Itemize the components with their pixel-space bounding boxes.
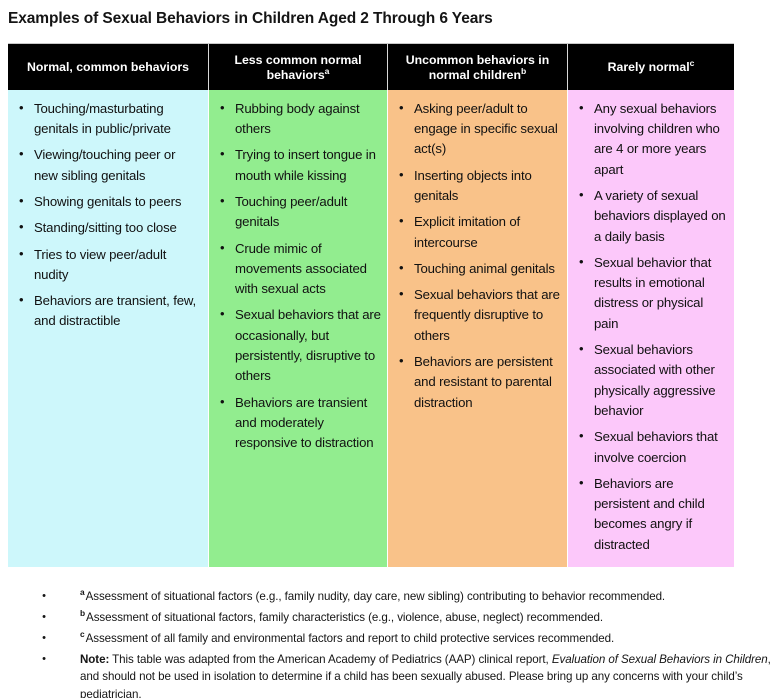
footnote-b: • bAssessment of situational factors, fa…: [8, 609, 771, 626]
page-title: Examples of Sexual Behaviors in Children…: [8, 8, 493, 30]
note-label: Note:: [80, 653, 109, 666]
table-cell-rarely-normal: Any sexual behaviors involving children …: [568, 90, 734, 567]
list-item: Behaviors are persistent and child becom…: [592, 474, 728, 555]
table-cell-less-common-normal: Rubbing body against others Trying to in…: [209, 90, 388, 567]
document-page: Examples of Sexual Behaviors in Children…: [0, 0, 779, 698]
list-item: Viewing/touching peer or new sibling gen…: [32, 145, 202, 186]
column-header-label: Normal, common behaviors: [27, 60, 189, 74]
list-item: Sexual behaviors that are occasionally, …: [233, 305, 381, 386]
list-item: Trying to insert tongue in mouth while k…: [233, 145, 381, 186]
list-item: Behaviors are transient and moderately r…: [233, 393, 381, 454]
footnote-text: bAssessment of situational factors, fami…: [80, 609, 771, 626]
list-item: Explicit imitation of intercourse: [412, 212, 561, 253]
list-item: Inserting objects into genitals: [412, 166, 561, 207]
footnote-body: Assessment of situational factors (e.g.,…: [86, 590, 666, 603]
list-item: Tries to view peer/adult nudity: [32, 245, 202, 286]
note-text: Note: This table was adapted from the Am…: [80, 651, 771, 698]
footnote-body: Assessment of all family and environment…: [86, 632, 615, 645]
footnote-text: cAssessment of all family and environmen…: [80, 630, 771, 647]
bullet-glyph: •: [8, 630, 80, 647]
footnote-text: aAssessment of situational factors (e.g.…: [80, 588, 771, 605]
footnote-marker: c: [80, 629, 85, 639]
footnote-body: Assessment of situational factors, famil…: [86, 611, 603, 624]
list-item: Touching peer/adult genitals: [233, 192, 381, 233]
list-item: Any sexual behaviors involving children …: [592, 99, 728, 180]
footnote-c: • cAssessment of all family and environm…: [8, 630, 771, 647]
column-header-label: Less common normal behaviors: [234, 53, 361, 82]
footnotes-section: • aAssessment of situational factors (e.…: [8, 588, 771, 698]
column-header-label: Rarely normal: [608, 60, 690, 74]
header-superscript: a: [325, 66, 330, 76]
column-header-uncommon-in-normal-children: Uncommon behaviors in normal childrenb: [388, 44, 568, 90]
behavior-list: Touching/masturbating genitals in public…: [12, 99, 202, 332]
list-item: Touching/masturbating genitals in public…: [32, 99, 202, 140]
list-item: Behaviors are persistent and resistant t…: [412, 352, 561, 413]
list-item: Asking peer/adult to engage in specific …: [412, 99, 561, 160]
list-item: Rubbing body against others: [233, 99, 381, 140]
list-item: A variety of sexual behaviors displayed …: [592, 186, 728, 247]
list-item: Touching animal genitals: [412, 259, 561, 279]
footnote-note: • Note: This table was adapted from the …: [8, 651, 771, 698]
table-body-row: Touching/masturbating genitals in public…: [8, 90, 734, 567]
list-item: Behaviors are transient, few, and distra…: [32, 291, 202, 332]
list-item: Showing genitals to peers: [32, 192, 202, 212]
list-item: Sexual behaviors that involve coercion: [592, 427, 728, 468]
behavior-list: Any sexual behaviors involving children …: [572, 99, 728, 555]
note-part1: This table was adapted from the American…: [109, 653, 552, 666]
bullet-glyph: •: [8, 609, 80, 626]
footnote-marker: b: [80, 608, 85, 618]
header-superscript: b: [521, 66, 526, 76]
column-header-label: Uncommon behaviors in normal children: [406, 53, 550, 82]
column-header-less-common-normal: Less common normal behaviorsa: [209, 44, 388, 90]
behavior-list: Rubbing body against others Trying to in…: [213, 99, 381, 454]
table-cell-uncommon-in-normal-children: Asking peer/adult to engage in specific …: [388, 90, 568, 567]
list-item: Sexual behaviors associated with other p…: [592, 340, 728, 421]
table-header-row: Normal, common behaviors Less common nor…: [8, 44, 734, 90]
column-header-normal-common: Normal, common behaviors: [8, 44, 209, 90]
bullet-glyph: •: [8, 651, 80, 668]
list-item: Standing/sitting too close: [32, 218, 202, 238]
note-italic-title: Evaluation of Sexual Behaviors in Childr…: [552, 653, 768, 666]
bullet-glyph: •: [8, 588, 80, 605]
footnote-marker: a: [80, 587, 85, 597]
table-cell-normal-common: Touching/masturbating genitals in public…: [8, 90, 209, 567]
behaviors-table: Normal, common behaviors Less common nor…: [8, 43, 734, 567]
footnote-a: • aAssessment of situational factors (e.…: [8, 588, 771, 605]
header-superscript: c: [690, 58, 695, 68]
list-item: Sexual behaviors that are frequently dis…: [412, 285, 561, 346]
behavior-list: Asking peer/adult to engage in specific …: [392, 99, 561, 413]
column-header-rarely-normal: Rarely normalc: [568, 44, 734, 90]
list-item: Crude mimic of movements associated with…: [233, 239, 381, 300]
list-item: Sexual behavior that results in emotiona…: [592, 253, 728, 334]
